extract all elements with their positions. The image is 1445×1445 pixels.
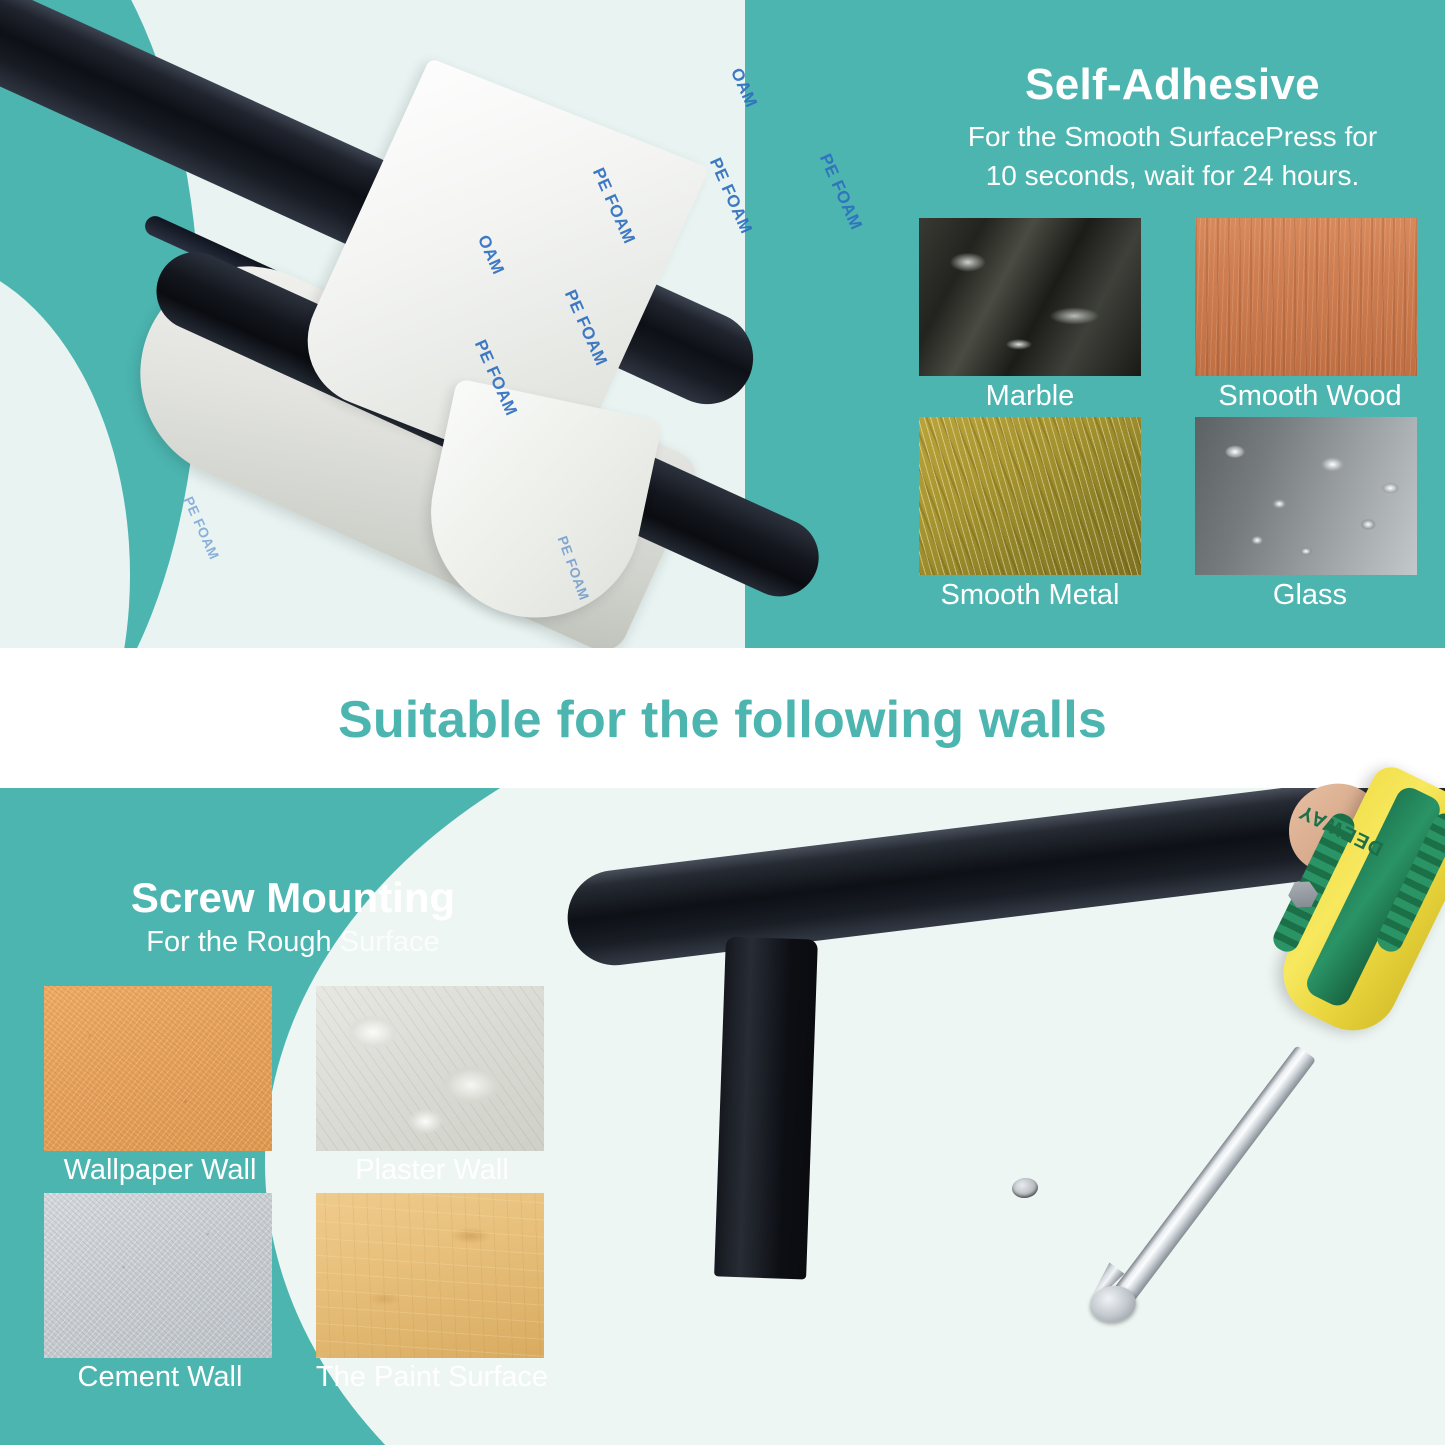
handrail-post-photo xyxy=(714,936,818,1279)
cement-wall-swatch xyxy=(44,1193,272,1358)
self-adhesive-subheading-line-2: 10 seconds, wait for 24 hours. xyxy=(905,157,1440,196)
wallpaper-wall-swatch xyxy=(44,986,272,1151)
marble-swatch xyxy=(919,218,1141,376)
plaster-wall-swatch xyxy=(316,986,544,1151)
material-item: Marble xyxy=(905,218,1173,413)
screw-mounting-subheading: For the Rough Surface xyxy=(28,926,558,959)
material-item: Smooth Metal xyxy=(905,417,1173,612)
material-item: Glass xyxy=(1177,417,1445,612)
wall-label: The Paint Surface xyxy=(302,1358,562,1394)
screw-mounting-section: Screw Mounting For the Rough Surface Wal… xyxy=(0,788,1445,1445)
wall-label: Wallpaper Wall xyxy=(30,1151,290,1187)
material-item: Smooth Wood xyxy=(1177,218,1445,413)
self-adhesive-heading: Self-Adhesive xyxy=(905,62,1440,108)
wall-item: Cement Wall xyxy=(30,1193,298,1394)
material-label: Smooth Metal xyxy=(905,575,1155,612)
self-adhesive-subheading-line-1: For the Smooth SurfacePress for xyxy=(905,118,1440,157)
self-adhesive-subheading: For the Smooth SurfacePress for 10 secon… xyxy=(905,118,1440,195)
material-swatch-grid: Marble Smooth Wood Smooth Metal Glass xyxy=(905,218,1445,612)
paint-surface-swatch xyxy=(316,1193,544,1358)
wall-label: Plaster Wall xyxy=(302,1151,562,1187)
smooth-wood-swatch xyxy=(1195,218,1417,376)
self-adhesive-section: OAM PE FOAM PE FOAM PE FOAM OAM PE FOAM … xyxy=(0,0,1445,648)
pe-foam-text: PE FOAM xyxy=(181,494,223,562)
wall-swatch-grid: Wallpaper Wall Plaster Wall Cement Wall … xyxy=(30,986,570,1394)
wall-item: Plaster Wall xyxy=(302,986,570,1187)
wall-item: The Paint Surface xyxy=(302,1193,570,1394)
screw-mounting-heading: Screw Mounting xyxy=(28,874,558,922)
banner-title: Suitable for the following walls xyxy=(0,690,1445,750)
material-label: Glass xyxy=(1185,575,1435,612)
wall-label: Cement Wall xyxy=(30,1358,290,1394)
glass-swatch xyxy=(1195,417,1417,575)
material-label: Marble xyxy=(905,376,1155,413)
smooth-metal-swatch xyxy=(919,417,1141,575)
material-label: Smooth Wood xyxy=(1185,376,1435,413)
product-infographic: OAM PE FOAM PE FOAM PE FOAM OAM PE FOAM … xyxy=(0,0,1445,1445)
wall-item: Wallpaper Wall xyxy=(30,986,298,1187)
